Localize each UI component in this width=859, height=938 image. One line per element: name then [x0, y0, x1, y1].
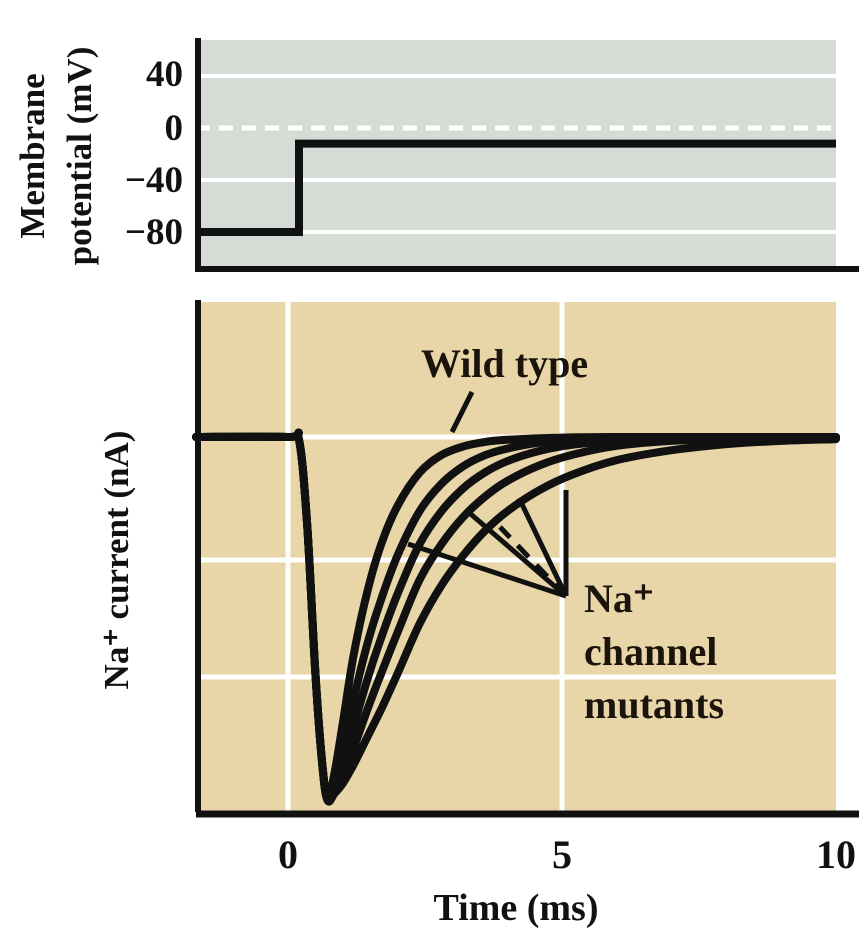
voltage-axis-title-line1: Membrane [13, 73, 52, 238]
current-axis-title: Na⁺ current (nA) [97, 431, 136, 690]
action-potential-figure: 40 0 −40 −80 Membrane potential (mV) Wil… [0, 0, 859, 938]
x-tick-label-5: 5 [552, 832, 572, 877]
annotation-mutants-line1: Na⁺ [584, 576, 654, 621]
x-tick-label-0: 0 [278, 832, 298, 877]
voltage-tick-label-minus80: −80 [125, 212, 183, 253]
voltage-tick-label-40: 40 [146, 54, 183, 95]
x-tick-label-10: 10 [816, 832, 856, 877]
annotation-mutants-line3: mutants [584, 682, 724, 727]
x-axis-title: Time (ms) [434, 887, 599, 929]
current-panel: Wild type Na⁺ channel mutants Na⁺ curren… [97, 300, 859, 814]
annotation-wild-type-label: Wild type [421, 341, 588, 386]
voltage-tick-label-minus40: −40 [125, 160, 183, 201]
voltage-axis-title-line2: potential (mV) [60, 47, 99, 266]
voltage-tick-label-0: 0 [165, 108, 184, 149]
annotation-mutants-line2: channel [584, 629, 717, 674]
figure-root: 40 0 −40 −80 Membrane potential (mV) Wil… [0, 0, 859, 938]
